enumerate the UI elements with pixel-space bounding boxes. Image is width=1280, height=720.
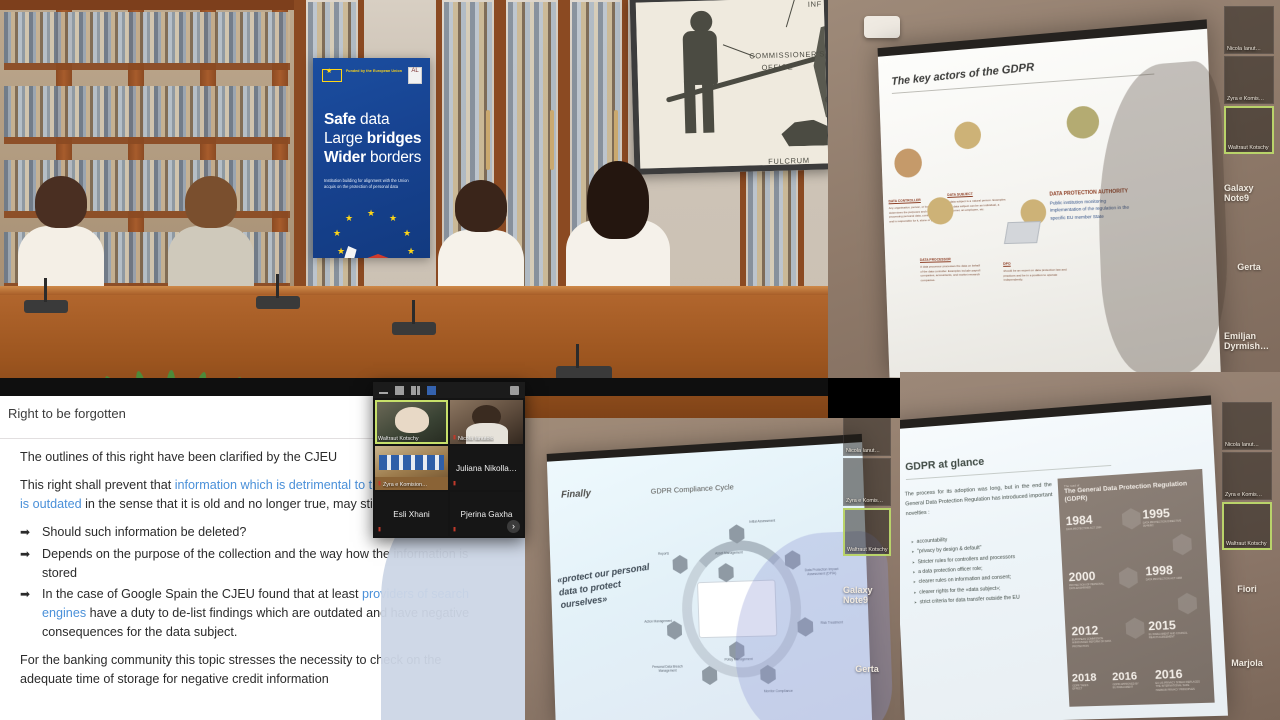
rail-tile: Zyra e Komis… [843, 458, 891, 506]
banner-eu-caption: Funded by the European Union [346, 69, 402, 74]
actor-name-processor: DATA PROCESSOR [920, 257, 982, 264]
video-tile[interactable]: Zyra e Komision… [375, 446, 448, 490]
actor-desc-subject: A data subject is a natural person. Exam… [947, 197, 1005, 212]
video-tile-name: Nicola Ianutolo [458, 436, 494, 442]
speaker-view-icon[interactable] [395, 386, 404, 395]
banner-headline: Safe data Large bridges Wider borders [324, 111, 424, 168]
participant-person [18, 183, 104, 300]
video-tile-name: Esli Xhani [375, 492, 448, 536]
rail-name: Zyra e Komis… [1225, 492, 1262, 498]
timeline-year-label: GDPR TAKES EFFECT [1072, 684, 1098, 691]
share-screen-icon[interactable] [510, 386, 519, 395]
minimize-icon[interactable] [379, 392, 388, 394]
para2-pre: This right shall prevent that [20, 478, 175, 492]
timeline-year: 2012 [1071, 623, 1099, 638]
rail-name: Fiori [1222, 552, 1272, 626]
eu-flag-icon [322, 69, 342, 82]
rail-name: Gerta [843, 632, 891, 706]
actor-caption-processor: DATA PROCESSOR A data processor processe… [920, 257, 983, 283]
cycle-node-label: Action Management [642, 619, 675, 624]
cycle-node-label: Initial Assessment [745, 518, 780, 524]
actor-desc-processor: A data processor processes the data on b… [920, 263, 980, 282]
video-tile[interactable]: Pjerina Gaxha › [450, 492, 523, 536]
banner-line1-rest: data [356, 111, 389, 128]
projected-participant-rail: Nicola Ianut… Zyra e Komis… Waltraut Kot… [1222, 402, 1272, 720]
rail-name: Gerta [1224, 230, 1274, 304]
timeline-year-label: EU PARLIAMENT AND COUNCIL REACH AGREEMEN… [1149, 632, 1191, 640]
rail-tile: Nicola Ianut… [843, 418, 891, 456]
timeline-year: 2016 [1155, 667, 1183, 682]
zoom-video-grid: Waltraut Kotschy Nicola Ianutolo Zyra e … [373, 398, 525, 538]
worker-figure [676, 10, 723, 131]
rail-name: Waltraut Kotschy [847, 547, 888, 553]
timeline-year-label: EUROPEAN COMMISSION ANNOUNCED REFORM OF … [1072, 637, 1113, 648]
actor-avatar-dpo [1020, 199, 1046, 223]
compliance-cycle-title: GDPR Compliance Cycle [651, 482, 734, 496]
rail-name: Marjola [1222, 626, 1272, 700]
gallery-view-icon[interactable] [427, 386, 436, 395]
timeline-year-label: GDPR APPROVED BY EU PARLIAMENT [1113, 682, 1140, 689]
banner-line2-bold: bridges [367, 130, 422, 147]
rail-name: Waltraut Kotschy [1228, 145, 1269, 151]
timeline-year: 2018 [1072, 672, 1097, 685]
eu-stars: ★★★ ★★★ ★★★ ★ [331, 208, 417, 258]
banner-line3-rest: borders [366, 149, 421, 166]
rail-name: Emiljan Dyrmish… [1224, 304, 1274, 378]
rail-tile: Nicola Ianut… [1222, 402, 1272, 450]
chevron-right-icon[interactable]: › [507, 520, 520, 533]
actor-name-dpo: DPO [1003, 260, 1076, 267]
rail-name: Zyra e Komis… [1227, 96, 1264, 102]
video-tile[interactable]: Esli Xhani [375, 492, 448, 536]
laptop-shape [1004, 221, 1041, 244]
roll-up-banner: Funded by the European Union AL Safe dat… [313, 58, 430, 258]
timeline-year: 2000 [1068, 569, 1096, 584]
timeline-year-label: DATA PROTECTION ACT 1998 [1146, 576, 1187, 581]
slide-glance-bullets: accountability "privacy by design & defa… [911, 528, 1070, 608]
timeline-year: 2015 [1148, 618, 1176, 633]
projection-screen: GDPR at glance The process for its adopt… [900, 395, 1228, 720]
fulcrum-rock [781, 119, 828, 146]
slide-finally: Finally GDPR Compliance Cycle «protect o… [547, 442, 862, 462]
projected-participant-rail: Nicola Ianut… Zyra e Komis… Waltraut Kot… [843, 418, 891, 720]
rail-tile-active: Waltraut Kotschy [1224, 106, 1274, 154]
timeline-year-label: DATA PROTECTION DIRECTIVE 95/46/EC [1143, 519, 1185, 528]
projection-screen: Finally GDPR Compliance Cycle «protect o… [547, 434, 872, 720]
timeline-year-label: PROTECTION OF PERSONAL DATA ENSHRINED [1069, 582, 1110, 590]
mute-icon [452, 435, 457, 442]
zoom-gallery-window[interactable]: Waltraut Kotschy Nicola Ianutolo Zyra e … [373, 382, 525, 538]
video-tile[interactable]: Waltraut Kotschy [375, 400, 448, 444]
microphone [256, 296, 300, 309]
rail-name: Waltraut Kotschy [1226, 541, 1267, 547]
rail-tile: Zyra e Komis… [1224, 56, 1274, 104]
timeline-year-label: EU-US PRIVACY SHIELD REPLACES THE INTERN… [1155, 680, 1201, 691]
cycle-node-label: Personal Data Breach Management [651, 664, 685, 673]
projected-slide-finally-panel: Finally GDPR Compliance Cycle «protect o… [525, 418, 905, 720]
label-inf: INF [808, 0, 822, 9]
video-tile[interactable]: Juliana Nikolla… [450, 446, 523, 490]
projected-participant-rail: Nicola Ianut… Zyra e Komis… Waltraut Kot… [1224, 6, 1274, 378]
projected-slide-gdpr-at-glance-panel: GDPR at glance The process for its adopt… [900, 372, 1280, 720]
slide-finally-title: Finally [561, 488, 591, 500]
timeline-year: 1998 [1145, 563, 1173, 579]
banner-line1-bold: Safe [324, 111, 356, 128]
timeline-year: 2016 [1112, 670, 1138, 683]
rail-name: Nicola Ianut… [846, 448, 880, 454]
framed-illustration: COMMISSIONER'S OFFICE FULCRUM INF GO [630, 0, 828, 175]
video-tile-name: Waltraut Kotschy [378, 436, 419, 442]
slide-finally-quote: «protect our personal data to protect ou… [557, 560, 666, 612]
actor-caption-dpo: DPO should be an expert on data protecti… [1003, 260, 1077, 282]
video-tile-name: Juliana Nikolla… [450, 446, 523, 490]
rail-name: Nicola Ianut… [1225, 442, 1259, 448]
participant-person [168, 183, 254, 300]
bullet-text: In the case of Google Spain the CJEU fou… [42, 587, 362, 601]
rail-tile-active: Waltraut Kotschy [843, 508, 891, 556]
video-tile-name: Zyra e Komision… [383, 482, 427, 488]
albania-flag-icon: AL [408, 67, 422, 84]
microphone [24, 300, 68, 313]
banner-line3-bold: Wider [324, 149, 366, 166]
rail-tile: Nicola Ianut… [1224, 6, 1274, 54]
video-tile[interactable]: Nicola Ianutolo [450, 400, 523, 444]
actor-avatar-controller [894, 148, 922, 175]
microphone [392, 322, 436, 335]
actor-caption-subject: DATA SUBJECT A data subject is a natural… [947, 191, 1007, 214]
slide-glance-title: GDPR at glance [905, 456, 985, 473]
conference-room-photo: Funded by the European Union AL Safe dat… [0, 0, 828, 420]
slide-glance-paragraph: The process for its adoption was long, b… [905, 481, 1054, 519]
label-fulcrum: FULCRUM [768, 156, 810, 166]
rail-tile: Zyra e Komis… [1222, 452, 1272, 500]
slide-gdpr-at-glance: GDPR at glance The process for its adopt… [900, 405, 1211, 430]
rail-name: Nargis [1222, 700, 1272, 720]
cycle-node-label: Reports [647, 551, 680, 557]
side-by-side-view-icon[interactable] [411, 386, 420, 395]
slide-title: Right to be forgotten [8, 406, 126, 421]
actor-avatar-subject [954, 121, 981, 147]
projector-screen-roller [864, 16, 900, 38]
projected-slide-key-actors-panel: The key actors of the GDPR DATA CONTROLL… [828, 0, 1280, 378]
actor-desc-dpo: should be an expert on data protection l… [1003, 267, 1066, 282]
banner-subtitle: Institution building for alignment with … [324, 178, 420, 190]
actor-avatar-processor [927, 197, 954, 222]
screenshot-collage: Funded by the European Union AL Safe dat… [0, 0, 1280, 720]
rail-tile-active: Waltraut Kotschy [1222, 502, 1272, 550]
rail-name: Nicola Ianut… [1227, 46, 1261, 52]
rail-name: Zyra e Komis… [846, 498, 883, 504]
banner-line2-rest: Large [324, 130, 367, 147]
zoom-view-toolbar[interactable] [373, 382, 525, 398]
projection-screen: The key actors of the GDPR DATA CONTROLL… [878, 19, 1222, 378]
actor-avatar-dpa [1066, 105, 1099, 135]
label-office: OFFICE [761, 62, 793, 72]
rail-name: Galaxy Note9 [843, 558, 891, 632]
rail-name: Emiljan Dyrmish… [843, 706, 891, 720]
bullet-text: Should such information be deleted? [42, 525, 246, 539]
rail-name: Galaxy Note9 [1224, 156, 1274, 230]
gdpr-timeline-infographic: The road of The General Data Protection … [1058, 469, 1215, 707]
